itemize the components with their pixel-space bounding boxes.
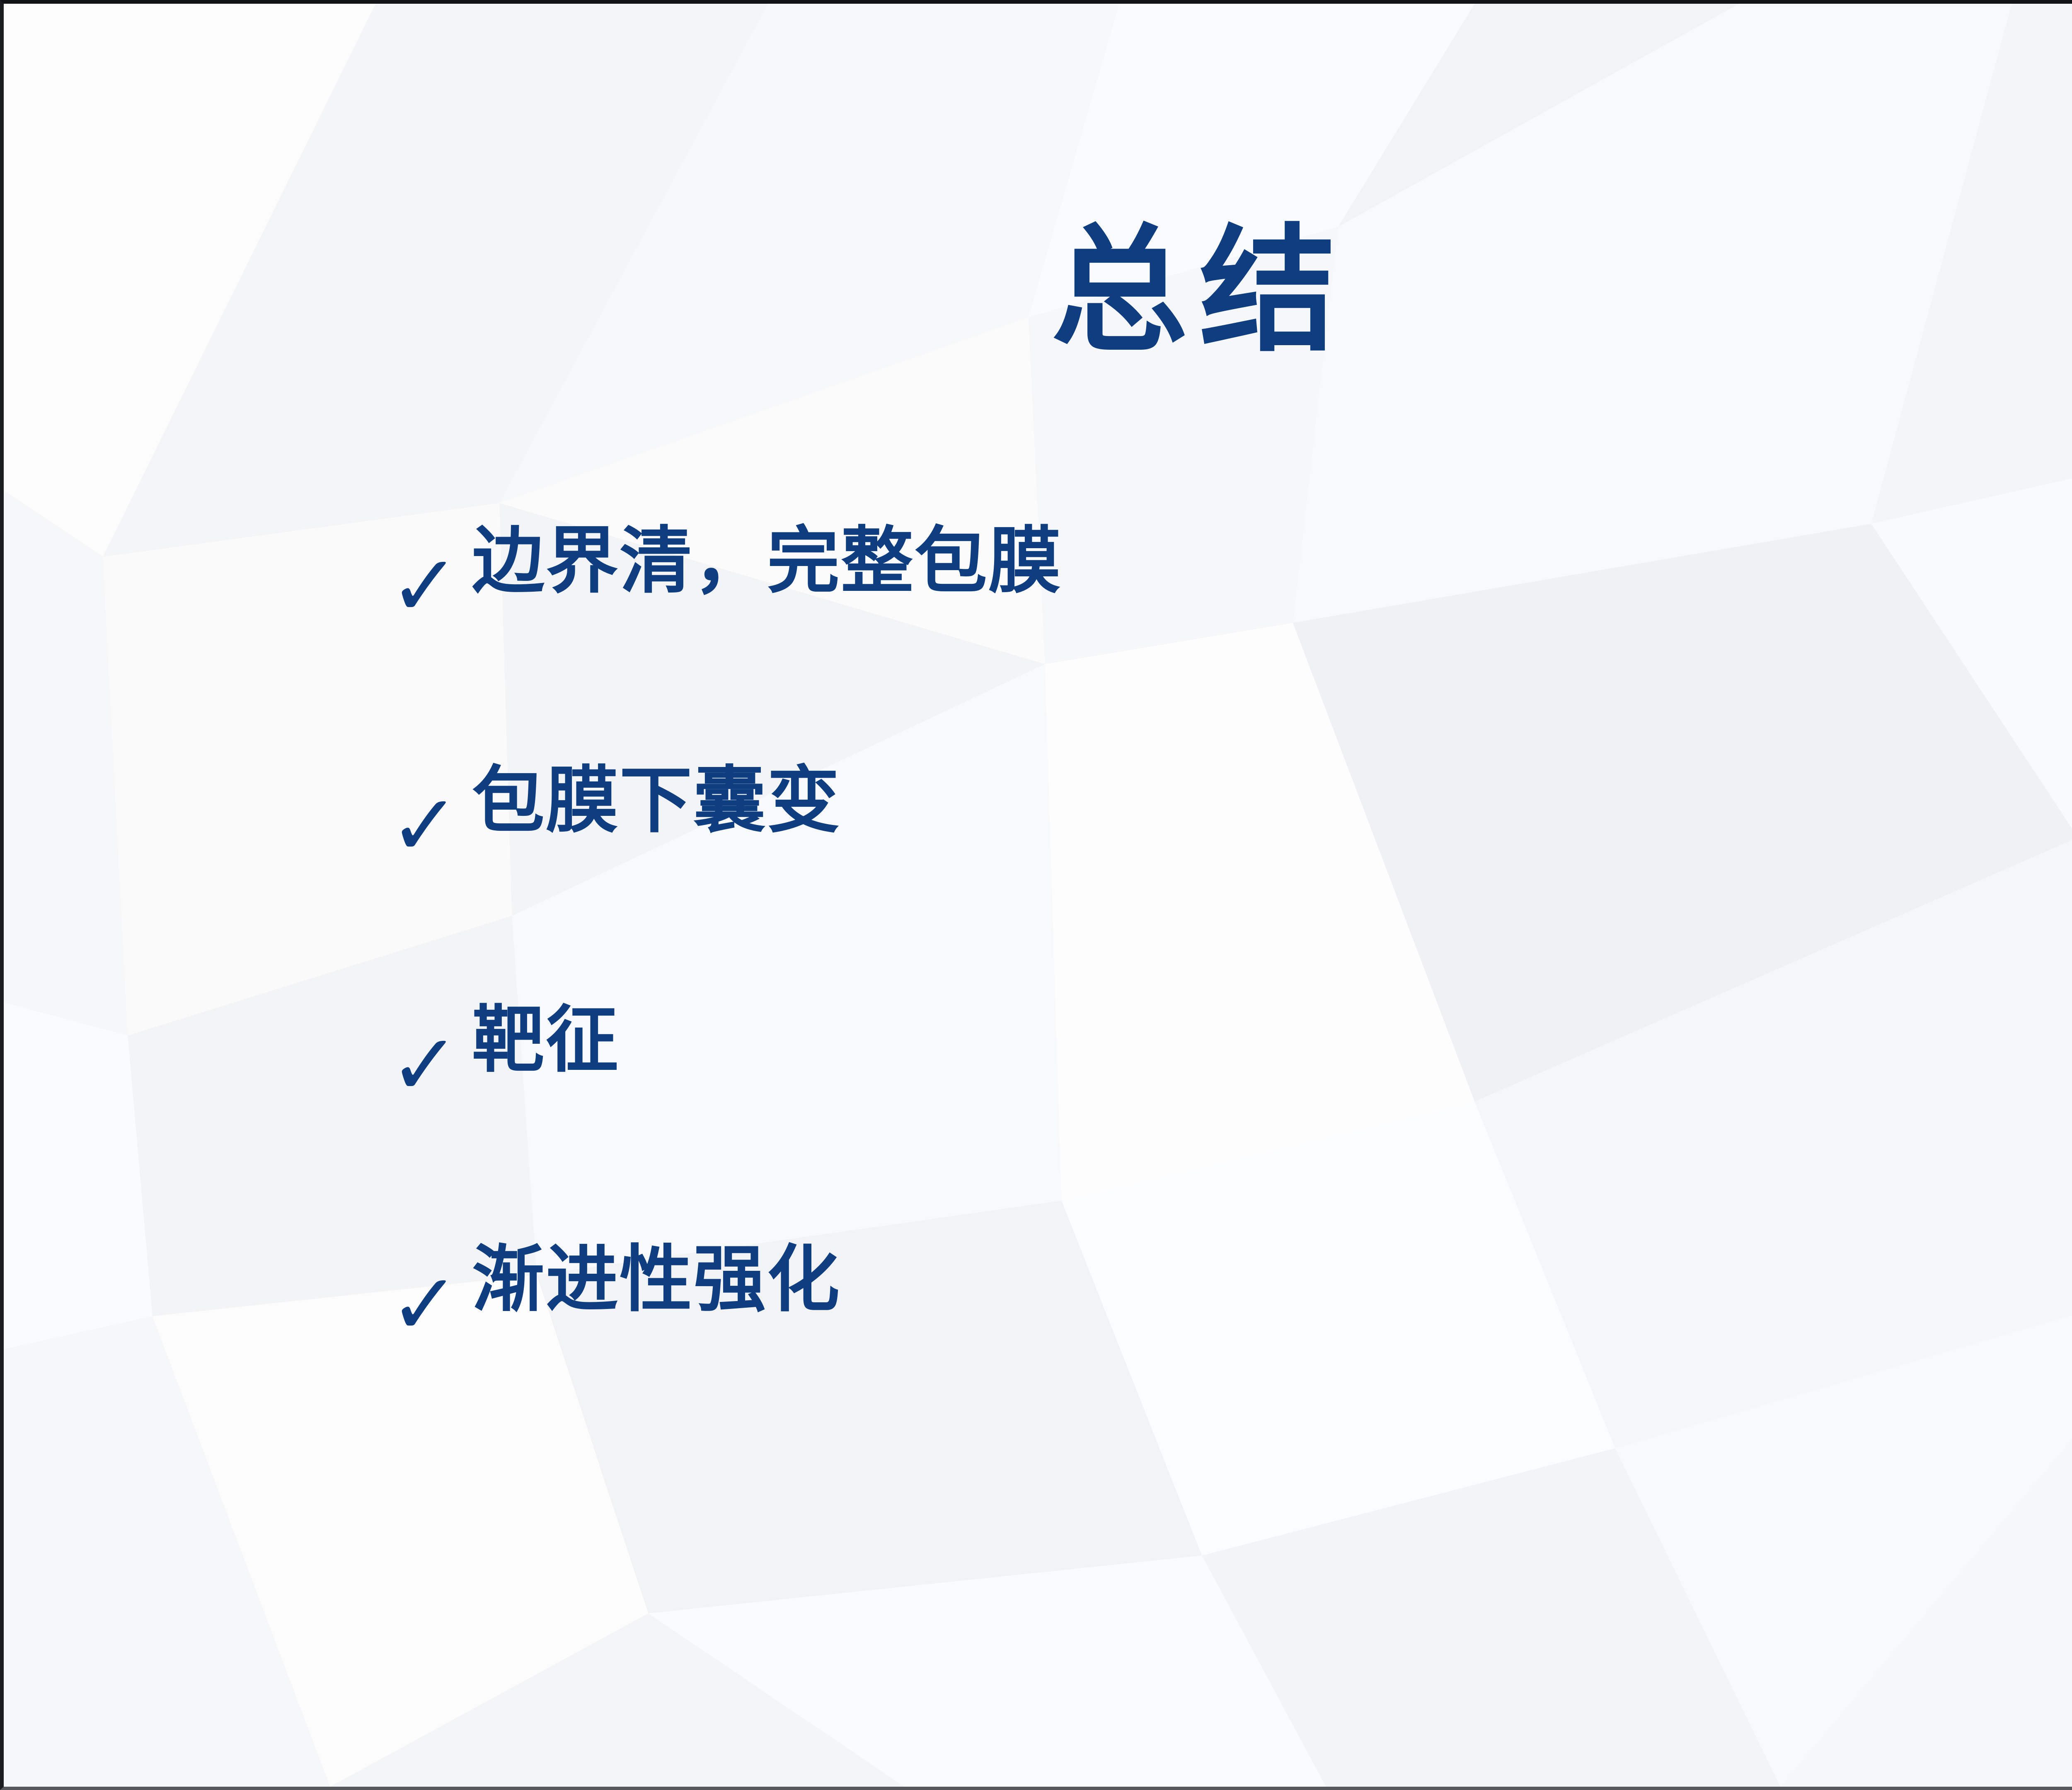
checkmark-icon: ✓ xyxy=(389,525,472,629)
checkmark-icon: ✓ xyxy=(389,764,472,868)
checkmark-icon: ✓ xyxy=(389,1004,472,1108)
list-item-label: 渐进性强化 xyxy=(472,1243,2072,1316)
list-item: ✓ 包膜下囊变 xyxy=(389,764,2072,1004)
page-title: 总结 xyxy=(1040,220,1348,362)
presentation-slide: 总结 ✓ 边界清，完整包膜 ✓ 包膜下囊变 ✓ 靶征 ✓ 渐进性强化 xyxy=(0,0,2072,1790)
list-item: ✓ 靶征 xyxy=(389,1004,2072,1243)
list-item: ✓ 渐进性强化 xyxy=(389,1243,2072,1483)
list-item-label: 边界清，完整包膜 xyxy=(472,525,2072,597)
list-item: ✓ 边界清，完整包膜 xyxy=(389,525,2072,764)
checkmark-icon: ✓ xyxy=(389,1243,472,1347)
list-item-label: 包膜下囊变 xyxy=(472,764,2072,837)
title-block: 总结 xyxy=(4,128,2072,453)
list-item-label: 靶征 xyxy=(472,1004,2072,1076)
summary-bullet-list: ✓ 边界清，完整包膜 ✓ 包膜下囊变 ✓ 靶征 ✓ 渐进性强化 xyxy=(389,525,2072,1483)
